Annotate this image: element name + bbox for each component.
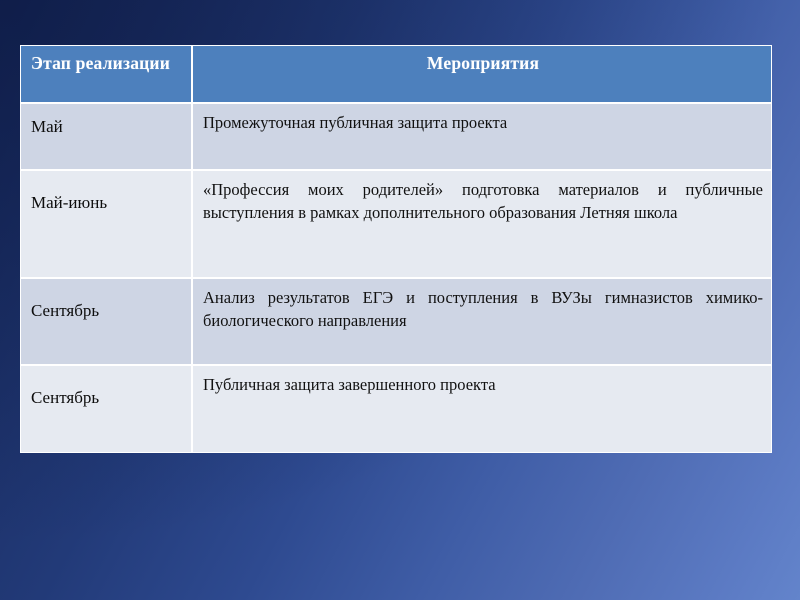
slide-canvas: Этап реализации Мероприятия Май Промежут…: [0, 0, 800, 600]
table-header-row: Этап реализации Мероприятия: [20, 45, 772, 103]
cell-stage: Май: [20, 103, 192, 170]
schedule-table: Этап реализации Мероприятия Май Промежут…: [20, 45, 772, 453]
cell-event: «Профессия моих родителей» подготовка ма…: [192, 170, 772, 278]
schedule-table-container: Этап реализации Мероприятия Май Промежут…: [20, 45, 772, 453]
cell-event: Анализ результатов ЕГЭ и поступления в В…: [192, 278, 772, 365]
cell-stage: Сентябрь: [20, 278, 192, 365]
table-row: Май Промежуточная публичная защита проек…: [20, 103, 772, 170]
cell-event: Промежуточная публичная защита проекта: [192, 103, 772, 170]
column-header-events: Мероприятия: [192, 45, 772, 103]
table-row: Сентябрь Публичная защита завершенного п…: [20, 365, 772, 453]
cell-stage: Май-июнь: [20, 170, 192, 278]
cell-stage: Сентябрь: [20, 365, 192, 453]
table-row: Сентябрь Анализ результатов ЕГЭ и поступ…: [20, 278, 772, 365]
cell-event: Публичная защита завершенного проекта: [192, 365, 772, 453]
column-header-stage: Этап реализации: [20, 45, 192, 103]
table-row: Май-июнь «Профессия моих родителей» подг…: [20, 170, 772, 278]
